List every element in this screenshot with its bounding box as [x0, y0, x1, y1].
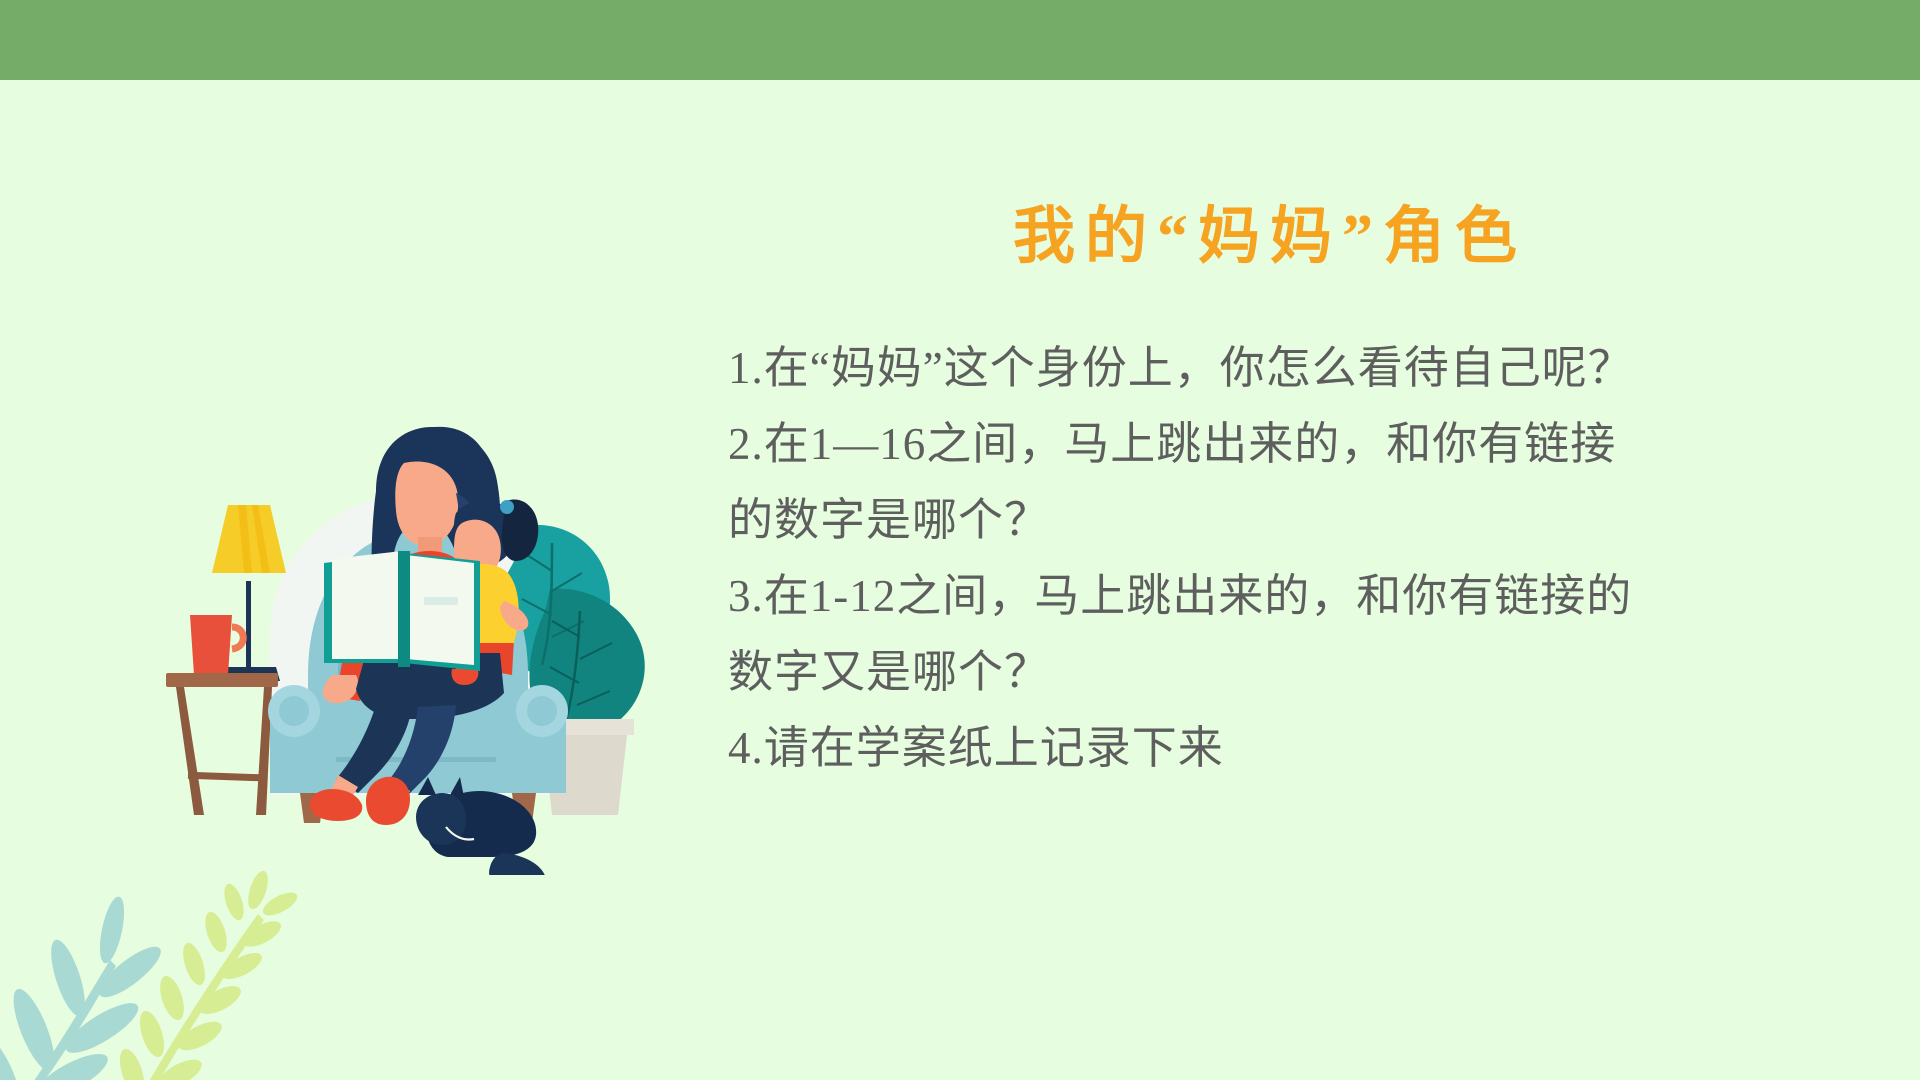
body-line-2: 2.在1—16之间，马上跳出来的，和你有链接 [728, 406, 1858, 482]
body-line-5: 数字又是哪个？ [728, 634, 1858, 710]
decorative-leaf-sprigs [0, 860, 330, 1080]
book-spine [398, 551, 410, 667]
wooden-stool [166, 673, 278, 815]
blue-fern-sprig [0, 895, 167, 1080]
cat-tail [489, 853, 546, 875]
slide-body-text: 1.在“妈妈”这个身份上，你怎么看待自己呢？ 2.在1—16之间，马上跳出来的，… [728, 330, 1858, 786]
body-line-4: 3.在1-12之间，马上跳出来的，和你有链接的 [728, 558, 1858, 634]
book-page-right [406, 555, 474, 665]
green-fern-sprig [115, 869, 300, 1080]
coffee-mug [190, 615, 243, 675]
body-line-3: 的数字是哪个？ [728, 482, 1858, 558]
presentation-slide: 我的“妈妈”角色 1.在“妈妈”这个身份上，你怎么看待自己呢？ 2.在1—16之… [0, 0, 1920, 1080]
mother-reading-illustration [160, 375, 660, 875]
book-page-left [332, 551, 402, 659]
stool-top [166, 673, 278, 687]
book-label [424, 597, 458, 605]
top-banner-bar [0, 0, 1920, 80]
child-hair-tie [500, 500, 514, 514]
body-line-6: 4.请在学案纸上记录下来 [728, 710, 1858, 786]
slide-title: 我的“妈妈”角色 [720, 185, 1820, 275]
open-book [324, 551, 480, 671]
body-line-1: 1.在“妈妈”这个身份上，你怎么看待自己呢？ [728, 330, 1858, 406]
